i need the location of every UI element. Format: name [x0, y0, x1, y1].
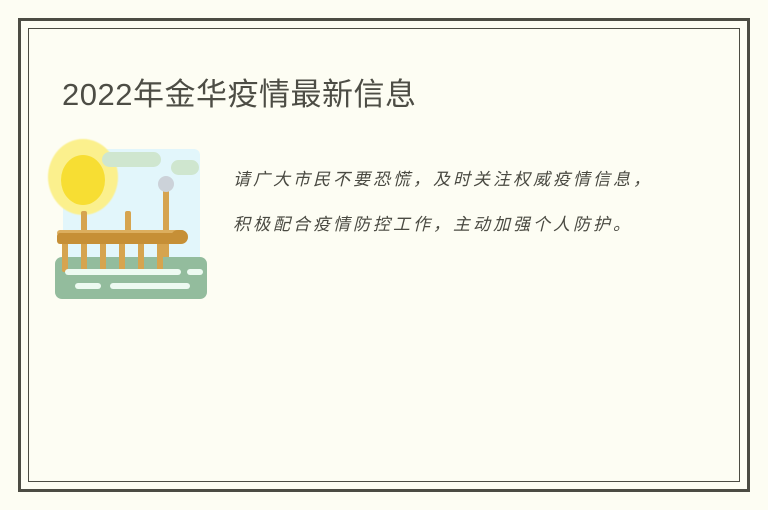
pier-deck-end-cap	[171, 230, 188, 244]
pier-support-post	[119, 242, 125, 272]
page-outer-border: 2022年金华疫情最新信息	[18, 18, 750, 492]
article-content: 2022年金华疫情最新信息	[29, 29, 739, 481]
cloud-left-icon	[102, 152, 161, 167]
pier-support-post	[62, 242, 68, 272]
water-highlight-line	[187, 269, 203, 275]
pier-support-post	[157, 242, 163, 272]
water-highlight-line	[65, 269, 181, 275]
pier-support-post	[138, 242, 144, 272]
sun-icon	[61, 155, 105, 205]
water-highlight-line	[75, 283, 101, 289]
water-highlight-line	[110, 283, 190, 289]
article-paragraph: 请广大市民不要恐慌，及时关注权威疫情信息，积极配合疫情防控工作，主动加强个人防护…	[233, 147, 653, 247]
pier-deck	[57, 233, 182, 244]
pier-support-post	[100, 242, 106, 272]
article-body: 请广大市民不要恐慌，及时关注权威疫情信息，积极配合疫情防控工作，主动加强个人防护…	[55, 147, 719, 299]
cloud-right-icon	[171, 160, 199, 175]
water-surface	[55, 257, 207, 299]
page-inner-border: 2022年金华疫情最新信息	[28, 28, 740, 482]
pier-support-post	[81, 242, 87, 272]
lamp-head-icon	[158, 176, 174, 192]
pier-illustration	[55, 147, 207, 299]
lamp-post-icon	[163, 185, 169, 267]
page-title: 2022年金华疫情最新信息	[62, 69, 416, 114]
